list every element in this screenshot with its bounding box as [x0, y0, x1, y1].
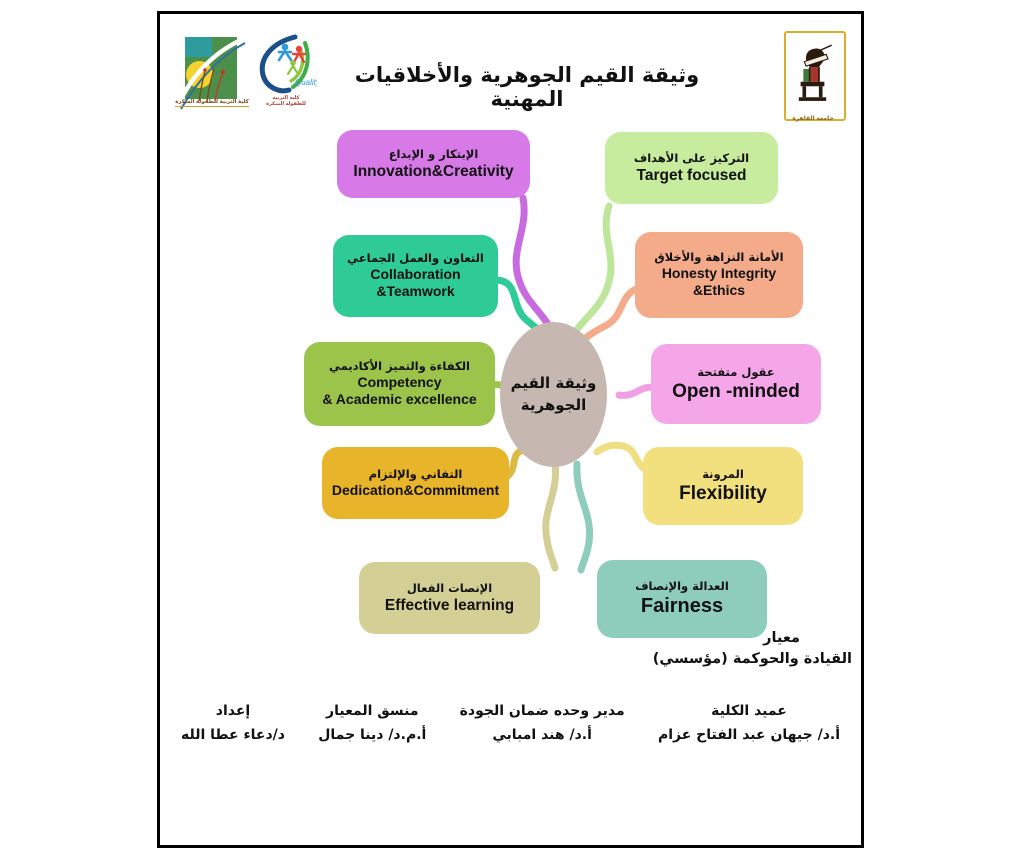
value-node-target-focused[interactable]: التركيز على الأهداف Target focused [605, 132, 778, 204]
value-english-collaboration-line2: &Teamwork [376, 283, 454, 301]
value-arabic-effective-learning: الإنصات الفعال [407, 581, 492, 596]
value-node-collaboration[interactable]: التعاون والعمل الجماعي Collaboration &Te… [333, 235, 498, 317]
value-english-competency-line2: & Academic excellence [322, 391, 476, 409]
value-arabic-collaboration: التعاون والعمل الجماعي [347, 251, 484, 266]
faculty-logo-icon: كلية التربية للطفولة المبكرة [175, 35, 249, 111]
quality-caption-line2: للطفولة المبكرة [266, 101, 306, 107]
signature-role: عميد الكلية [658, 700, 840, 724]
signature-criterion-coordinator: منسق المعيار أ.م.د/ دينا جمال [318, 700, 426, 770]
center-node: وثيقة القيم الجوهرية [500, 322, 607, 467]
poster-page: كلية التربية للطفولة المبكرة Quality كل [0, 0, 1024, 862]
value-arabic-competency: الكفاءة والتميز الأكاديمي [329, 359, 470, 374]
value-node-innovation[interactable]: الإبتكار و الإبداع Innovation&Creativity [337, 130, 530, 198]
value-arabic-honesty: الأمانة النزاهة والأخلاق [654, 250, 783, 265]
value-english-collaboration-line1: Collaboration [370, 266, 460, 284]
signature-role: إعداد [181, 700, 285, 724]
signature-name: د/دعاء عطا الله [181, 724, 285, 748]
value-node-open-minded[interactable]: عقول متفتحة Open -minded [651, 344, 821, 424]
page-title: وثيقة القيم الجوهرية والأخلاقيات المهنية [337, 63, 717, 111]
signature-prepared-by: إعداد د/دعاء عطا الله [181, 700, 285, 770]
value-arabic-dedication: التفاني والإلتزام [369, 467, 463, 482]
value-english-open-minded: Open -minded [672, 380, 800, 404]
value-node-flexibility[interactable]: المرونة Flexibility [643, 447, 803, 525]
values-mind-map: وثيقة القيم الجوهرية الإبتكار و الإبداع … [157, 110, 864, 650]
value-english-innovation: Innovation&Creativity [353, 162, 513, 181]
value-english-target-focused: Target focused [637, 166, 747, 185]
value-arabic-flexibility: المرونة [702, 467, 744, 482]
value-node-honesty[interactable]: الأمانة النزاهة والأخلاق Honesty Integri… [635, 232, 803, 318]
signature-name: أ.م.د/ دينا جمال [318, 724, 426, 748]
value-arabic-target-focused: التركيز على الأهداف [634, 151, 749, 166]
signature-faculty-dean: عميد الكلية أ.د/ جيهان عبد الفتاح عزام [658, 700, 840, 770]
value-english-flexibility: Flexibility [679, 482, 767, 506]
quality-logo-graphic: Quality [255, 33, 317, 95]
connector-open-minded [619, 387, 655, 395]
faculty-logo-caption: كلية التربية للطفولة المبكرة [175, 99, 249, 107]
quality-caption-line1: كلية التربية [272, 95, 299, 101]
value-node-dedication[interactable]: التفاني والإلتزام Dedication&Commitment [322, 447, 509, 519]
signature-role: مدير وحده ضمان الجودة [460, 700, 625, 724]
svg-text:Quality: Quality [295, 78, 317, 87]
connector-effective-learning [546, 462, 556, 568]
value-node-fairness[interactable]: العدالة والإنصاف Fairness [597, 560, 767, 638]
value-english-competency-line1: Competency [357, 374, 441, 392]
value-english-honesty-line1: Honesty Integrity [662, 265, 776, 283]
value-english-honesty-line2: &Ethics [693, 282, 745, 300]
value-arabic-innovation: الإبتكار و الإبداع [389, 147, 479, 162]
value-node-competency[interactable]: الكفاءة والتميز الأكاديمي Competency & A… [304, 342, 495, 426]
signature-row: إعداد د/دعاء عطا الله منسق المعيار أ.م.د… [157, 700, 864, 770]
signature-role: منسق المعيار [318, 700, 426, 724]
connector-fairness [577, 464, 590, 570]
value-english-fairness: Fairness [641, 594, 723, 619]
university-logo-frame [784, 31, 846, 121]
quality-logo-icon: Quality كلية التربية للطفولة المبكرة [255, 33, 317, 113]
signature-name: أ.د/ هند امبابي [460, 724, 625, 748]
criterion-line-2: القيادة والحوكمة (مؤسسي) [157, 649, 852, 670]
value-node-effective-learning[interactable]: الإنصات الفعال Effective learning [359, 562, 540, 634]
signature-name: أ.د/ جيهان عبد الفتاح عزام [658, 724, 840, 748]
value-arabic-fairness: العدالة والإنصاف [635, 579, 729, 594]
value-arabic-open-minded: عقول متفتحة [697, 365, 774, 380]
quality-logo-caption: كلية التربية للطفولة المبكرة [255, 95, 317, 108]
value-english-dedication: Dedication&Commitment [332, 482, 499, 500]
center-line-2: الجوهرية [521, 395, 586, 417]
university-logo-scribe-icon [786, 33, 839, 114]
signature-quality-unit-director: مدير وحده ضمان الجودة أ.د/ هند امبابي [460, 700, 625, 770]
value-english-effective-learning: Effective learning [385, 596, 514, 615]
center-line-1: وثيقة القيم [511, 373, 597, 395]
